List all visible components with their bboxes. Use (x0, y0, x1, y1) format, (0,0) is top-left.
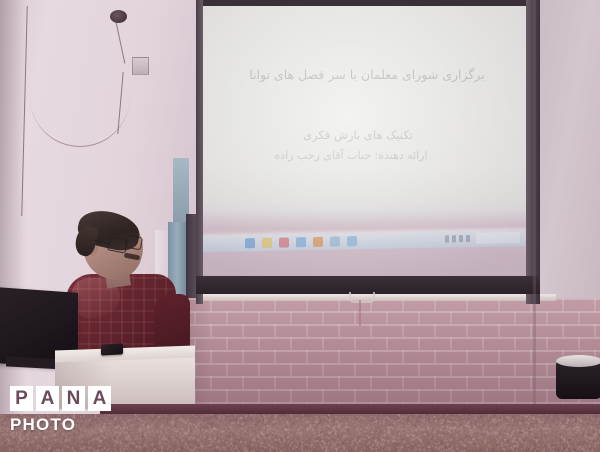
wall-wire-box (132, 57, 149, 75)
screen-pull-cord (359, 300, 361, 326)
watermark-letter-2: N (62, 386, 85, 411)
waste-bin-lid (556, 355, 600, 367)
projection-screen: برگزاری شورای معلمان با سر فصل های توانا… (196, 0, 540, 304)
wall-corner-edge (533, 0, 536, 452)
projection-vignette (203, 6, 526, 276)
watermark-subtitle: PHOTO (10, 415, 111, 435)
projected-slide: برگزاری شورای معلمان با سر فصل های توانا… (203, 6, 526, 276)
ceiling-cable-mount (110, 10, 127, 23)
mobile-phone-on-desk (101, 343, 123, 355)
eyeglasses-bridge (124, 241, 128, 243)
watermark: PANA PHOTO (10, 386, 111, 435)
watermark-letter-1: A (36, 386, 59, 411)
photo-scene: برگزاری شورای معلمان با سر فصل های توانا… (0, 0, 600, 452)
screen-pull-hook (349, 292, 375, 303)
watermark-letter-0: P (10, 386, 33, 411)
screen-top-casing (196, 0, 540, 6)
watermark-letters: PANA (10, 386, 111, 411)
left-wall-shadow (0, 0, 26, 452)
watermark-letter-3: A (88, 386, 111, 411)
